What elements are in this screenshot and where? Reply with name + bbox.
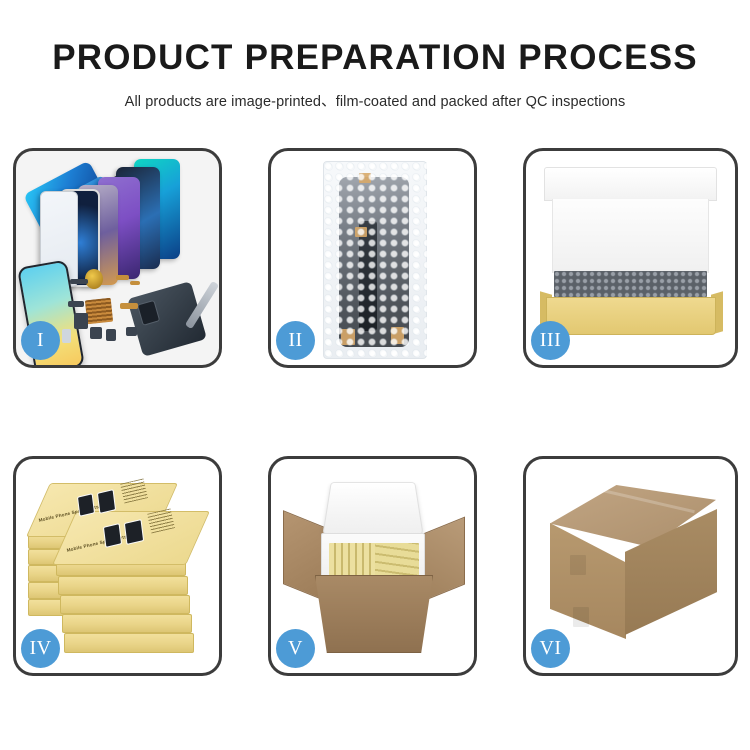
screw-grid-icon (85, 298, 113, 325)
box-window-2b (124, 519, 144, 545)
box-inner-white-foam-icon (552, 199, 709, 273)
box-lid-icon (544, 167, 717, 201)
step-badge-4: IV (21, 629, 60, 668)
tape-tab-2-icon (355, 227, 367, 237)
small-part-7-icon (106, 329, 116, 341)
process-step-panel-2: II (268, 148, 477, 368)
small-part-2-icon (116, 275, 129, 280)
gray-foam-pad-icon (554, 271, 707, 297)
process-step-panel-6: VI (523, 456, 738, 676)
step-badge-5: V (276, 629, 315, 668)
small-part-4-icon (68, 301, 84, 307)
small-part-10-icon (126, 327, 137, 336)
step-badge-6: VI (531, 629, 570, 668)
box-front-panel-icon (546, 297, 716, 335)
styrofoam-lid-icon (322, 482, 423, 535)
process-step-panel-1: I (13, 148, 222, 368)
header: PRODUCT PREPARATION PROCESS All products… (0, 38, 750, 111)
process-step-panel-5: V (268, 456, 477, 676)
retail-box-r3 (60, 595, 190, 614)
page-subtitle: All products are image-printed、film-coat… (0, 90, 750, 111)
box-window-1a (77, 493, 95, 517)
carton-tape-patch-2-icon (573, 607, 589, 627)
tape-tab-1-icon (359, 173, 371, 183)
box-window-1b (97, 489, 116, 514)
tape-tab-4-icon (391, 327, 404, 344)
small-part-8-icon (120, 303, 138, 309)
small-part-9-icon (62, 329, 71, 343)
retail-box-r2 (58, 576, 188, 595)
retail-box-r4 (62, 614, 192, 633)
tape-tab-3-icon (341, 329, 355, 345)
small-part-6-icon (90, 327, 102, 339)
product-preparation-infographic: PRODUCT PREPARATION PROCESS All products… (0, 0, 750, 750)
box-window-2a (103, 523, 122, 548)
carton-body-icon (315, 575, 433, 653)
step-badge-2: II (276, 321, 315, 360)
process-step-panel-3: III (523, 148, 738, 368)
step-badge-1: I (21, 321, 60, 360)
process-step-panel-4: Mobile Phone Spare Parts Mobile Phone Sp… (13, 456, 222, 676)
retail-box-r5 (64, 633, 194, 653)
process-step-grid: I II (13, 148, 737, 676)
small-part-5-icon (74, 313, 88, 329)
carton-tape-patch-1-icon (570, 555, 586, 575)
small-part-3-icon (130, 281, 140, 285)
small-part-1-icon (70, 279, 88, 284)
page-title: PRODUCT PREPARATION PROCESS (0, 38, 750, 78)
flex-cable-icon (359, 221, 377, 331)
step-badge-3: III (531, 321, 570, 360)
